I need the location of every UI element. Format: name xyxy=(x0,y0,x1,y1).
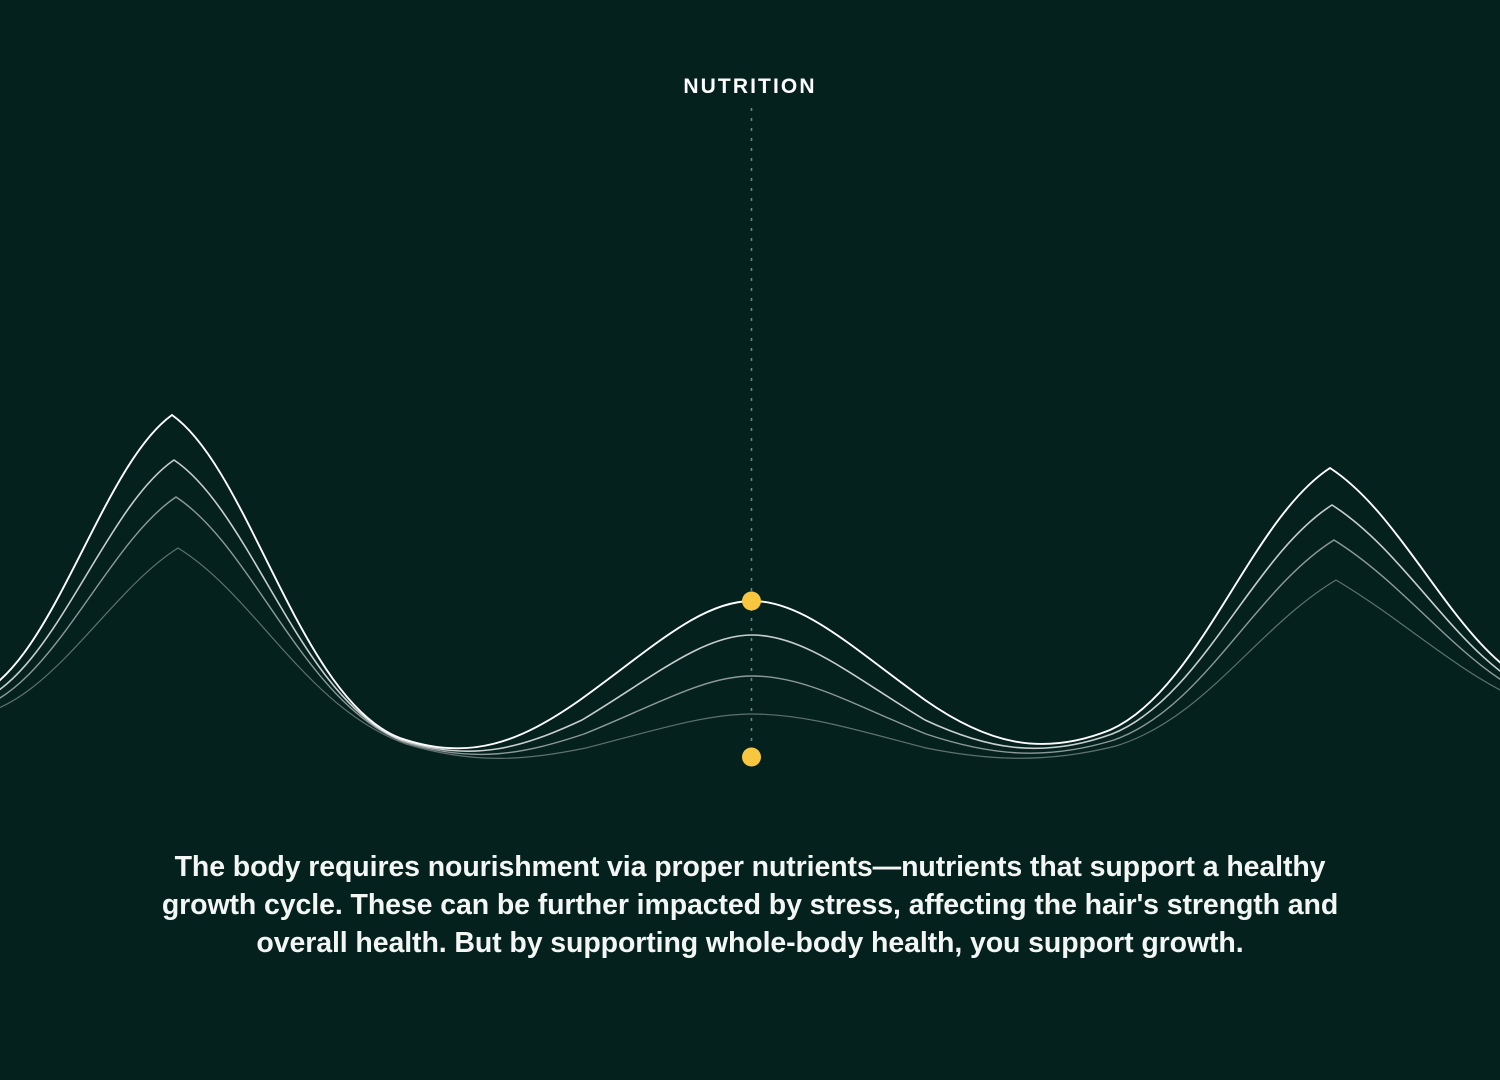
nutrition-peak-dot[interactable] xyxy=(742,592,761,611)
body-copy-line-1: The body requires nourishment via proper… xyxy=(150,848,1350,886)
body-copy-line-2: growth cycle. These can be further impac… xyxy=(150,886,1350,924)
wave-curve-4 xyxy=(0,548,1500,758)
body-copy: The body requires nourishment via proper… xyxy=(150,848,1350,962)
wave-curve-3 xyxy=(0,497,1500,754)
wave-curve-group xyxy=(0,415,1500,758)
nutrition-section: NUTRITION The body requires nourishment … xyxy=(0,0,1500,1080)
nutrition-baseline-dot[interactable] xyxy=(742,748,761,767)
wave-curve-1 xyxy=(0,415,1500,748)
body-copy-line-3: overall health. But by supporting whole-… xyxy=(150,924,1350,962)
